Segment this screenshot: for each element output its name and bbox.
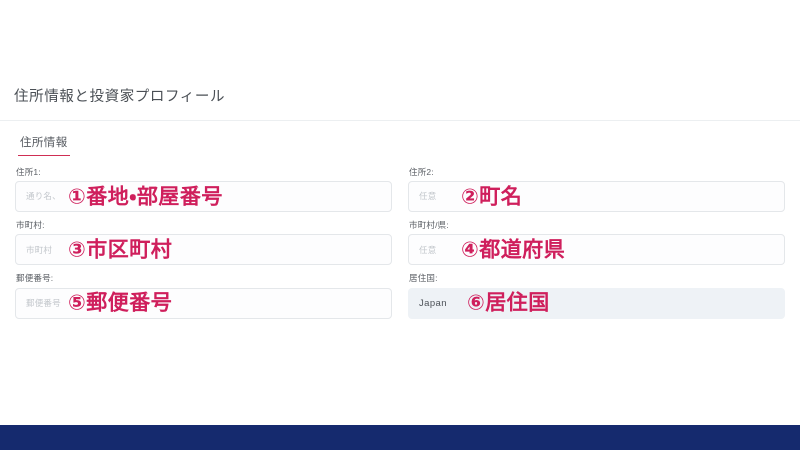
annotation-address2: ②町名 xyxy=(461,186,522,207)
input-city[interactable]: 市町村 ③市区町村 xyxy=(15,234,392,265)
field-group-country: 居住国: Japan ⑥居住国 xyxy=(408,274,785,318)
annotation-country: ⑥居住国 xyxy=(467,293,550,314)
top-whitespace xyxy=(0,0,800,74)
input-address1[interactable]: 通り名、 ①番地・部屋番号 xyxy=(15,181,392,212)
page-title: 住所情報と投資家プロフィール xyxy=(14,90,225,105)
input-postal-code[interactable]: 郵便番号 ⑤郵便番号 xyxy=(15,288,392,319)
label-state: 市町村/県: xyxy=(409,221,785,230)
input-address2[interactable]: 任意 ②町名 xyxy=(408,181,785,212)
input-country[interactable]: Japan ⑥居住国 xyxy=(408,288,785,319)
label-address2: 住所2: xyxy=(409,168,785,177)
address-form: 住所1: 通り名、 ①番地・部屋番号 住所2: 任意 ②町名 市町村: 市町村 xyxy=(0,156,800,319)
page-header: 住所情報と投資家プロフィール xyxy=(0,74,800,121)
tab-address-info[interactable]: 住所情報 xyxy=(18,137,70,156)
placeholder-state: 任意 xyxy=(419,246,436,255)
field-group-address1: 住所1: 通り名、 ①番地・部屋番号 xyxy=(15,168,392,212)
field-group-address2: 住所2: 任意 ②町名 xyxy=(408,168,785,212)
section-tab-bar: 住所情報 xyxy=(0,121,800,156)
page-root: 住所情報と投資家プロフィール 住所情報 住所1: 通り名、 ①番地・部屋番号 住… xyxy=(0,0,800,450)
annotation-state: ④都道府県 xyxy=(461,239,565,260)
label-city: 市町村: xyxy=(16,221,392,230)
label-country: 居住国: xyxy=(409,274,785,283)
form-row: 住所1: 通り名、 ①番地・部屋番号 住所2: 任意 ②町名 xyxy=(15,168,785,212)
form-row: 市町村: 市町村 ③市区町村 市町村/県: 任意 ④都道府県 xyxy=(15,221,785,265)
value-country: Japan xyxy=(419,299,447,309)
placeholder-address1: 通り名、 xyxy=(26,192,61,201)
placeholder-address2: 任意 xyxy=(419,192,436,201)
label-address1: 住所1: xyxy=(16,168,392,177)
label-postal-code: 郵便番号: xyxy=(16,274,392,283)
field-group-postal-code: 郵便番号: 郵便番号 ⑤郵便番号 xyxy=(15,274,392,318)
field-group-city: 市町村: 市町村 ③市区町村 xyxy=(15,221,392,265)
annotation-city: ③市区町村 xyxy=(68,239,172,260)
footer-bar xyxy=(0,425,800,450)
placeholder-city: 市町村 xyxy=(26,246,52,255)
placeholder-postal-code: 郵便番号 xyxy=(26,299,61,308)
field-group-state: 市町村/県: 任意 ④都道府県 xyxy=(408,221,785,265)
annotation-postal-code: ⑤郵便番号 xyxy=(68,293,172,314)
form-row: 郵便番号: 郵便番号 ⑤郵便番号 居住国: Japan ⑥居住国 xyxy=(15,274,785,318)
input-state[interactable]: 任意 ④都道府県 xyxy=(408,234,785,265)
annotation-address1: ①番地・部屋番号 xyxy=(68,186,223,207)
